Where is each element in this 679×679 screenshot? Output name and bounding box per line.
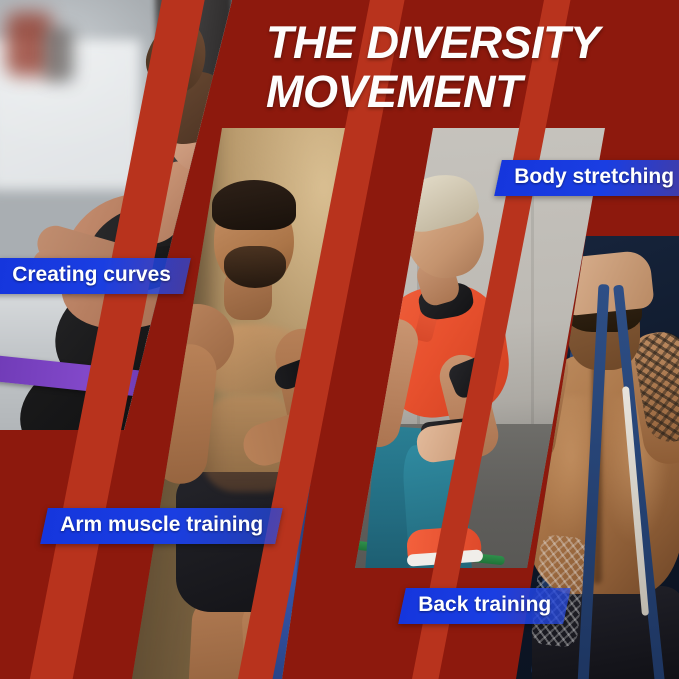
man-beard [224,246,286,288]
product-poster: THE DIVERSITY MOVEMENT Creating curves B… [0,0,679,679]
label-body-stretching-text: Body stretching [514,165,674,189]
man-hair [212,180,296,230]
label-creating-curves-text: Creating curves [12,263,171,287]
label-arm-muscle-training: Arm muscle training [40,508,283,544]
page-title: THE DIVERSITY MOVEMENT [266,18,666,116]
label-back-training-text: Back training [418,593,551,617]
background-blur-shape-2 [44,28,74,82]
label-creating-curves: Creating curves [0,258,191,294]
label-body-stretching: Body stretching [494,160,679,196]
label-back-training: Back training [398,588,571,624]
label-arm-muscle-training-text: Arm muscle training [60,513,263,537]
